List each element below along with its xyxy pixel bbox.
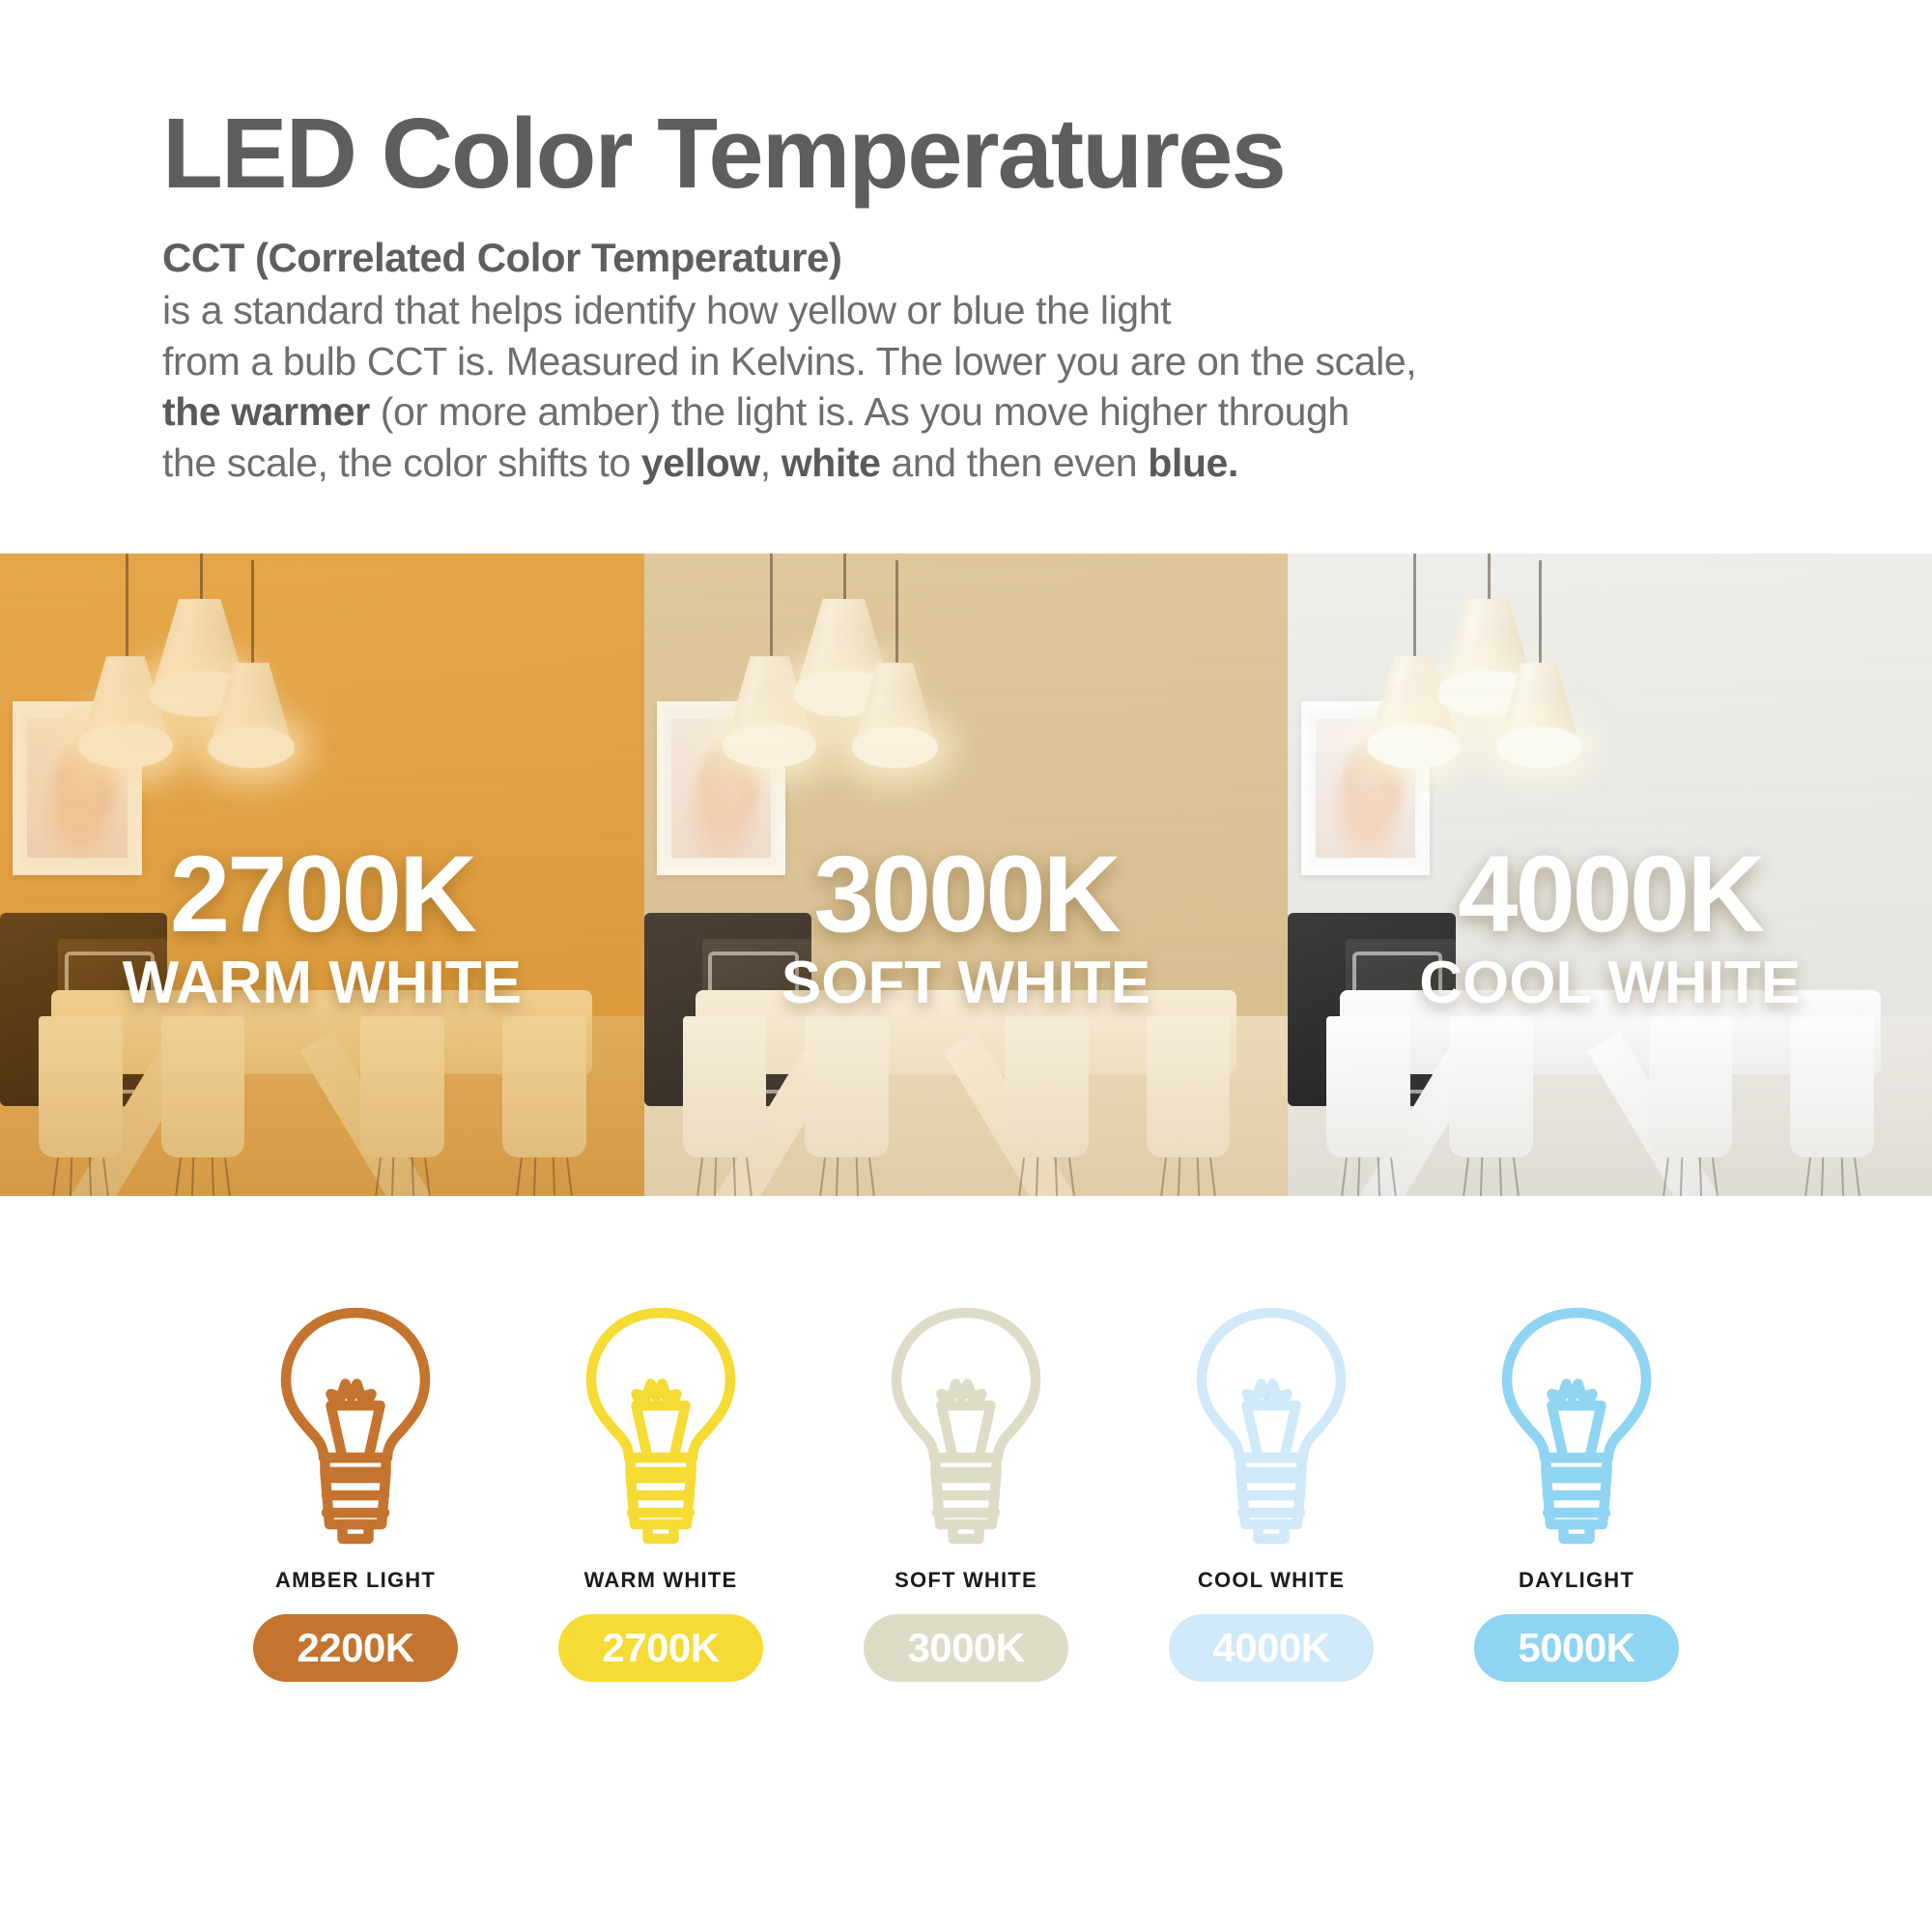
- chair: [502, 1016, 586, 1157]
- chair-legs: [691, 1157, 757, 1196]
- lamp-glow: [852, 726, 939, 768]
- paragraph-line-4d: and then even: [881, 440, 1149, 485]
- lamp-glow: [208, 726, 295, 768]
- bulb-cell-5000k: DAYLIGHT5000K: [1447, 1304, 1706, 1682]
- bulb-cell-2700k: WARM WHITE2700K: [531, 1304, 790, 1682]
- bulb-icon: [1184, 1304, 1358, 1550]
- chair-legs: [1799, 1157, 1865, 1196]
- lamp-glow: [1367, 724, 1461, 767]
- lamp-cord: [1413, 554, 1416, 656]
- pendant-lamp-3: [213, 663, 290, 765]
- kelvin-badge: 2700K: [558, 1614, 763, 1682]
- paragraph-line-4a: the scale, the color shifts to: [162, 440, 641, 485]
- room-panel-3000k: 3000K SOFT WHITE: [644, 554, 1289, 1196]
- bulb-icon: [269, 1304, 442, 1550]
- paragraph-bold-blue: blue.: [1148, 440, 1238, 485]
- kelvin-badge: 2200K: [253, 1614, 458, 1682]
- lamp-cord: [895, 560, 898, 663]
- panel-kelvin-name: SOFT WHITE: [644, 952, 1289, 1014]
- panel-kelvin-name: COOL WHITE: [1288, 952, 1932, 1014]
- bulb-cell-2200k: AMBER LIGHT2200K: [226, 1304, 485, 1682]
- chair-legs: [369, 1157, 436, 1196]
- chair: [1449, 1016, 1533, 1157]
- room-panel-2700k: 2700K WARM WHITE: [0, 554, 644, 1196]
- panel-kelvin-value: 3000K: [644, 843, 1289, 946]
- chair-legs: [511, 1157, 578, 1196]
- bulb-scale-row: AMBER LIGHT2200K WARM WHITE2700K SOFT WH…: [0, 1304, 1932, 1682]
- pendant-lamp-3: [857, 663, 934, 765]
- lamp-glow: [1496, 726, 1583, 768]
- panel-kelvin-value: 2700K: [0, 843, 644, 946]
- chair: [360, 1016, 444, 1157]
- chair-legs: [1013, 1157, 1080, 1196]
- paragraph-line-3: (or more amber) the light is. As you mov…: [370, 389, 1350, 434]
- panel-kelvin-name: WARM WHITE: [0, 952, 644, 1014]
- panel-caption: 2700K WARM WHITE: [0, 843, 644, 1014]
- lamp-cord: [1488, 554, 1491, 599]
- paragraph-comma-1: ,: [760, 440, 781, 485]
- room-comparison-strip: 2700K WARM WHITE 3000K SOFT WHITE: [0, 554, 1932, 1196]
- header: LED Color Temperatures CCT (Correlated C…: [0, 0, 1932, 488]
- panel-caption: 3000K SOFT WHITE: [644, 843, 1289, 1014]
- paragraph-line-1: is a standard that helps identify how ye…: [162, 288, 1171, 332]
- bulb-label: COOL WHITE: [1198, 1568, 1345, 1593]
- chair: [161, 1016, 245, 1157]
- bulb-icon: [574, 1304, 748, 1550]
- lamp-cord: [126, 554, 128, 656]
- bulb-label: WARM WHITE: [584, 1568, 738, 1593]
- panel-kelvin-value: 4000K: [1288, 843, 1932, 946]
- kelvin-badge: 3000K: [864, 1614, 1068, 1682]
- bulb-label: DAYLIGHT: [1519, 1568, 1634, 1593]
- chair: [39, 1016, 123, 1157]
- chair: [1147, 1016, 1231, 1157]
- chair-legs: [169, 1157, 236, 1196]
- chair-legs: [1154, 1157, 1221, 1196]
- chair: [1649, 1016, 1733, 1157]
- chair: [1005, 1016, 1089, 1157]
- bulb-cell-3000k: SOFT WHITE3000K: [837, 1304, 1095, 1682]
- lamp-glow: [723, 724, 816, 767]
- paragraph-bold-yellow: yellow: [641, 440, 760, 485]
- kelvin-badge: 5000K: [1474, 1614, 1679, 1682]
- chair: [805, 1016, 889, 1157]
- lamp-glow: [78, 724, 172, 767]
- lamp-cord: [251, 560, 254, 663]
- subheading: CCT (Correlated Color Temperature): [162, 235, 1932, 281]
- lamp-cord: [843, 554, 846, 599]
- bulb-label: SOFT WHITE: [895, 1568, 1037, 1593]
- bulb-label: AMBER LIGHT: [275, 1568, 436, 1593]
- chair-legs: [47, 1157, 114, 1196]
- lamp-cord: [770, 554, 773, 656]
- paragraph-line-2: from a bulb CCT is. Measured in Kelvins.…: [162, 339, 1416, 384]
- kelvin-badge: 4000K: [1169, 1614, 1374, 1682]
- chair: [683, 1016, 767, 1157]
- panel-caption: 4000K COOL WHITE: [1288, 843, 1932, 1014]
- chair: [1790, 1016, 1874, 1157]
- chair-legs: [1458, 1157, 1524, 1196]
- page-title: LED Color Temperatures: [162, 101, 1932, 206]
- paragraph-bold-white: white: [781, 440, 881, 485]
- paragraph-bold-warmer: the warmer: [162, 389, 370, 434]
- chair-legs: [1657, 1157, 1723, 1196]
- bulb-icon: [879, 1304, 1053, 1550]
- lamp-cord: [200, 554, 203, 599]
- chair: [1326, 1016, 1410, 1157]
- bulb-icon: [1490, 1304, 1663, 1550]
- pendant-lamp-3: [1500, 663, 1577, 765]
- bulb-cell-4000k: COOL WHITE4000K: [1142, 1304, 1401, 1682]
- chair-legs: [1335, 1157, 1402, 1196]
- description-paragraph: is a standard that helps identify how ye…: [162, 285, 1804, 488]
- room-panel-4000k: 4000K COOL WHITE: [1288, 554, 1932, 1196]
- lamp-cord: [1539, 560, 1542, 663]
- chair-legs: [813, 1157, 880, 1196]
